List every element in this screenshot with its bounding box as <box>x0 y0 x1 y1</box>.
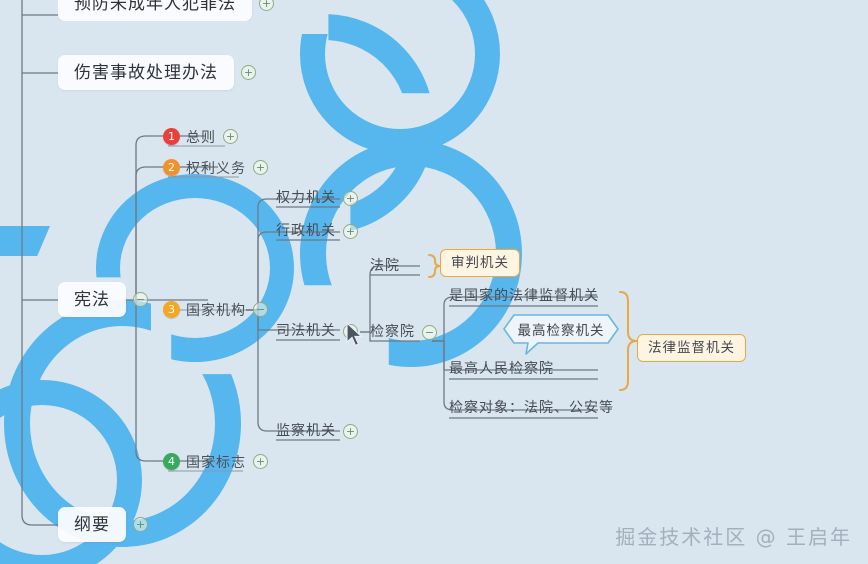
toggle-outline[interactable]: + <box>133 517 148 532</box>
node-general-provisions[interactable]: 1 总则 + <box>163 128 238 145</box>
node-state-organs[interactable]: 3 国家机构 − <box>163 301 268 318</box>
node-judicial-organ-label: 司法机关 <box>276 323 336 339</box>
node-administrative-organ[interactable]: 行政机关 + <box>276 223 358 239</box>
node-injury-law[interactable]: 伤害事故处理办法 + <box>58 55 256 90</box>
summary-legal-supervision[interactable]: 法律监督机关 <box>637 334 746 362</box>
toggle-state-symbols[interactable]: + <box>253 454 268 469</box>
node-power-organ-label: 权力机关 <box>276 190 336 206</box>
node-court[interactable]: 法院 <box>370 258 400 274</box>
node-outline[interactable]: 纲要 + <box>58 507 148 542</box>
node-procuratorial-objects-label: 检察对象：法院、公安等 <box>449 400 614 416</box>
node-court-label: 法院 <box>370 258 400 274</box>
node-procuratorial-objects[interactable]: 检察对象：法院、公安等 <box>449 400 614 416</box>
node-procuratorate[interactable]: 检察院 − <box>370 324 437 340</box>
toggle-constitution[interactable]: − <box>133 292 148 307</box>
summary-court-label: 审判机关 <box>440 249 520 277</box>
node-youth-law[interactable]: 预防未成年人犯罪法 + <box>58 0 274 21</box>
node-injury-law-label: 伤害事故处理办法 <box>58 55 234 90</box>
node-youth-law-label: 预防未成年人犯罪法 <box>58 0 252 21</box>
node-supervisory-organ-label: 监察机关 <box>276 423 336 439</box>
badge-number-1: 1 <box>163 128 180 145</box>
node-administrative-organ-label: 行政机关 <box>276 223 336 239</box>
mindmap-canvas[interactable]: 预防未成年人犯罪法 + 伤害事故处理办法 + 宪法 − 纲要 + 1 总则 + … <box>0 0 868 564</box>
node-power-organ[interactable]: 权力机关 + <box>276 190 358 206</box>
toggle-supervisory-organ[interactable]: + <box>343 424 358 439</box>
node-rights-duties-label: 权利义务 <box>186 161 246 175</box>
node-judicial-organ[interactable]: 司法机关 − <box>276 323 358 339</box>
toggle-youth-law[interactable]: + <box>259 0 274 11</box>
node-supervisory-organ[interactable]: 监察机关 + <box>276 423 358 439</box>
node-legal-supervision-desc[interactable]: 是国家的法律监督机关 <box>449 288 599 304</box>
node-constitution[interactable]: 宪法 − <box>58 282 148 317</box>
node-constitution-label: 宪法 <box>58 282 126 317</box>
callout-supreme-procuratorial-organ[interactable]: 最高检察机关 <box>502 313 620 351</box>
node-state-symbols-label: 国家标志 <box>186 455 246 469</box>
callout-supreme-procuratorial-organ-label: 最高检察机关 <box>502 313 620 345</box>
toggle-state-organs[interactable]: − <box>253 302 268 317</box>
summary-court[interactable]: 审判机关 <box>440 249 520 277</box>
badge-number-3: 3 <box>163 301 180 318</box>
node-procuratorate-label: 检察院 <box>370 324 415 340</box>
node-state-organs-label: 国家机构 <box>186 303 246 317</box>
toggle-rights-duties[interactable]: + <box>253 160 268 175</box>
node-general-provisions-label: 总则 <box>186 130 216 144</box>
node-rights-duties[interactable]: 2 权利义务 + <box>163 159 268 176</box>
toggle-judicial-organ[interactable]: − <box>343 324 358 339</box>
toggle-power-organ[interactable]: + <box>343 191 358 206</box>
summary-legal-supervision-label: 法律监督机关 <box>637 334 746 362</box>
node-supreme-procuratorate-label: 最高人民检察院 <box>449 361 554 377</box>
node-state-symbols[interactable]: 4 国家标志 + <box>163 453 268 470</box>
node-supreme-procuratorate[interactable]: 最高人民检察院 <box>449 361 554 377</box>
node-legal-supervision-desc-label: 是国家的法律监督机关 <box>449 288 599 304</box>
toggle-general-provisions[interactable]: + <box>223 129 238 144</box>
toggle-injury-law[interactable]: + <box>241 65 256 80</box>
toggle-administrative-organ[interactable]: + <box>343 224 358 239</box>
toggle-procuratorate[interactable]: − <box>422 325 437 340</box>
node-outline-label: 纲要 <box>58 507 126 542</box>
watermark: 掘金技术社区 @ 王启年 <box>615 521 852 550</box>
badge-number-4: 4 <box>163 453 180 470</box>
badge-number-2: 2 <box>163 159 180 176</box>
